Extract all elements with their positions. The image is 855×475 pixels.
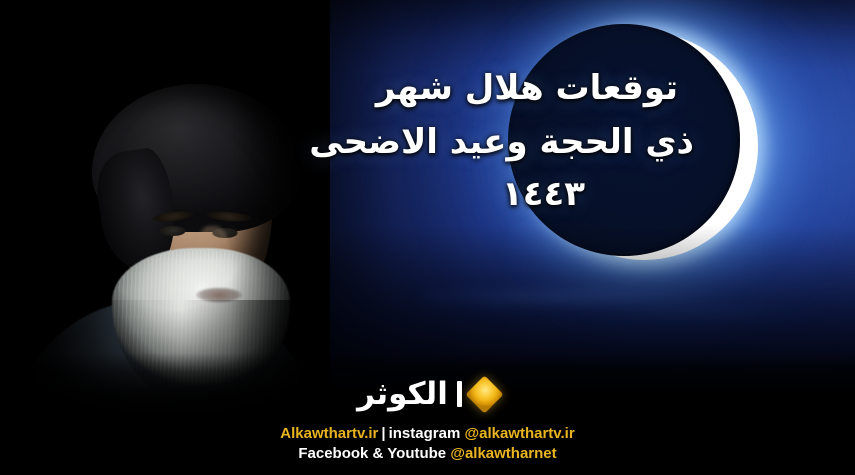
logo-bar-icon [457, 381, 462, 407]
social-line-2: Facebook & Youtube @alkawtharnet [0, 444, 855, 464]
channel-logo[interactable]: الكوثر [0, 372, 855, 416]
headline-line-1: توقعات هلال شهر [290, 62, 760, 116]
instagram-label: instagram [389, 425, 461, 442]
headline-block: توقعات هلال شهر ذي الحجة وعيد الاضحى ١٤٤… [290, 62, 760, 220]
headline-line-2: ذي الحجة وعيد الاضحى [290, 116, 760, 170]
facebook-youtube-handle[interactable]: @alkawtharnet [450, 445, 556, 462]
logo-diamond-icon [465, 375, 503, 413]
logo-wordmark: الكوثر [357, 379, 448, 410]
social-line-1: Alkawthartv.ir|instagram @alkawthartv.ir [0, 424, 855, 444]
alkawthar-banner: توقعات هلال شهر ذي الحجة وعيد الاضحى ١٤٤… [0, 0, 855, 475]
facebook-youtube-label: Facebook & Youtube [298, 445, 446, 462]
social-handles-block: Alkawthartv.ir|instagram @alkawthartv.ir… [0, 424, 855, 464]
social-separator: | [378, 425, 388, 442]
instagram-handle[interactable]: @alkawthartv.ir [464, 425, 574, 442]
website-link[interactable]: Alkawthartv.ir [280, 425, 378, 442]
headline-hijri-year: ١٤٤٣ [290, 169, 760, 220]
